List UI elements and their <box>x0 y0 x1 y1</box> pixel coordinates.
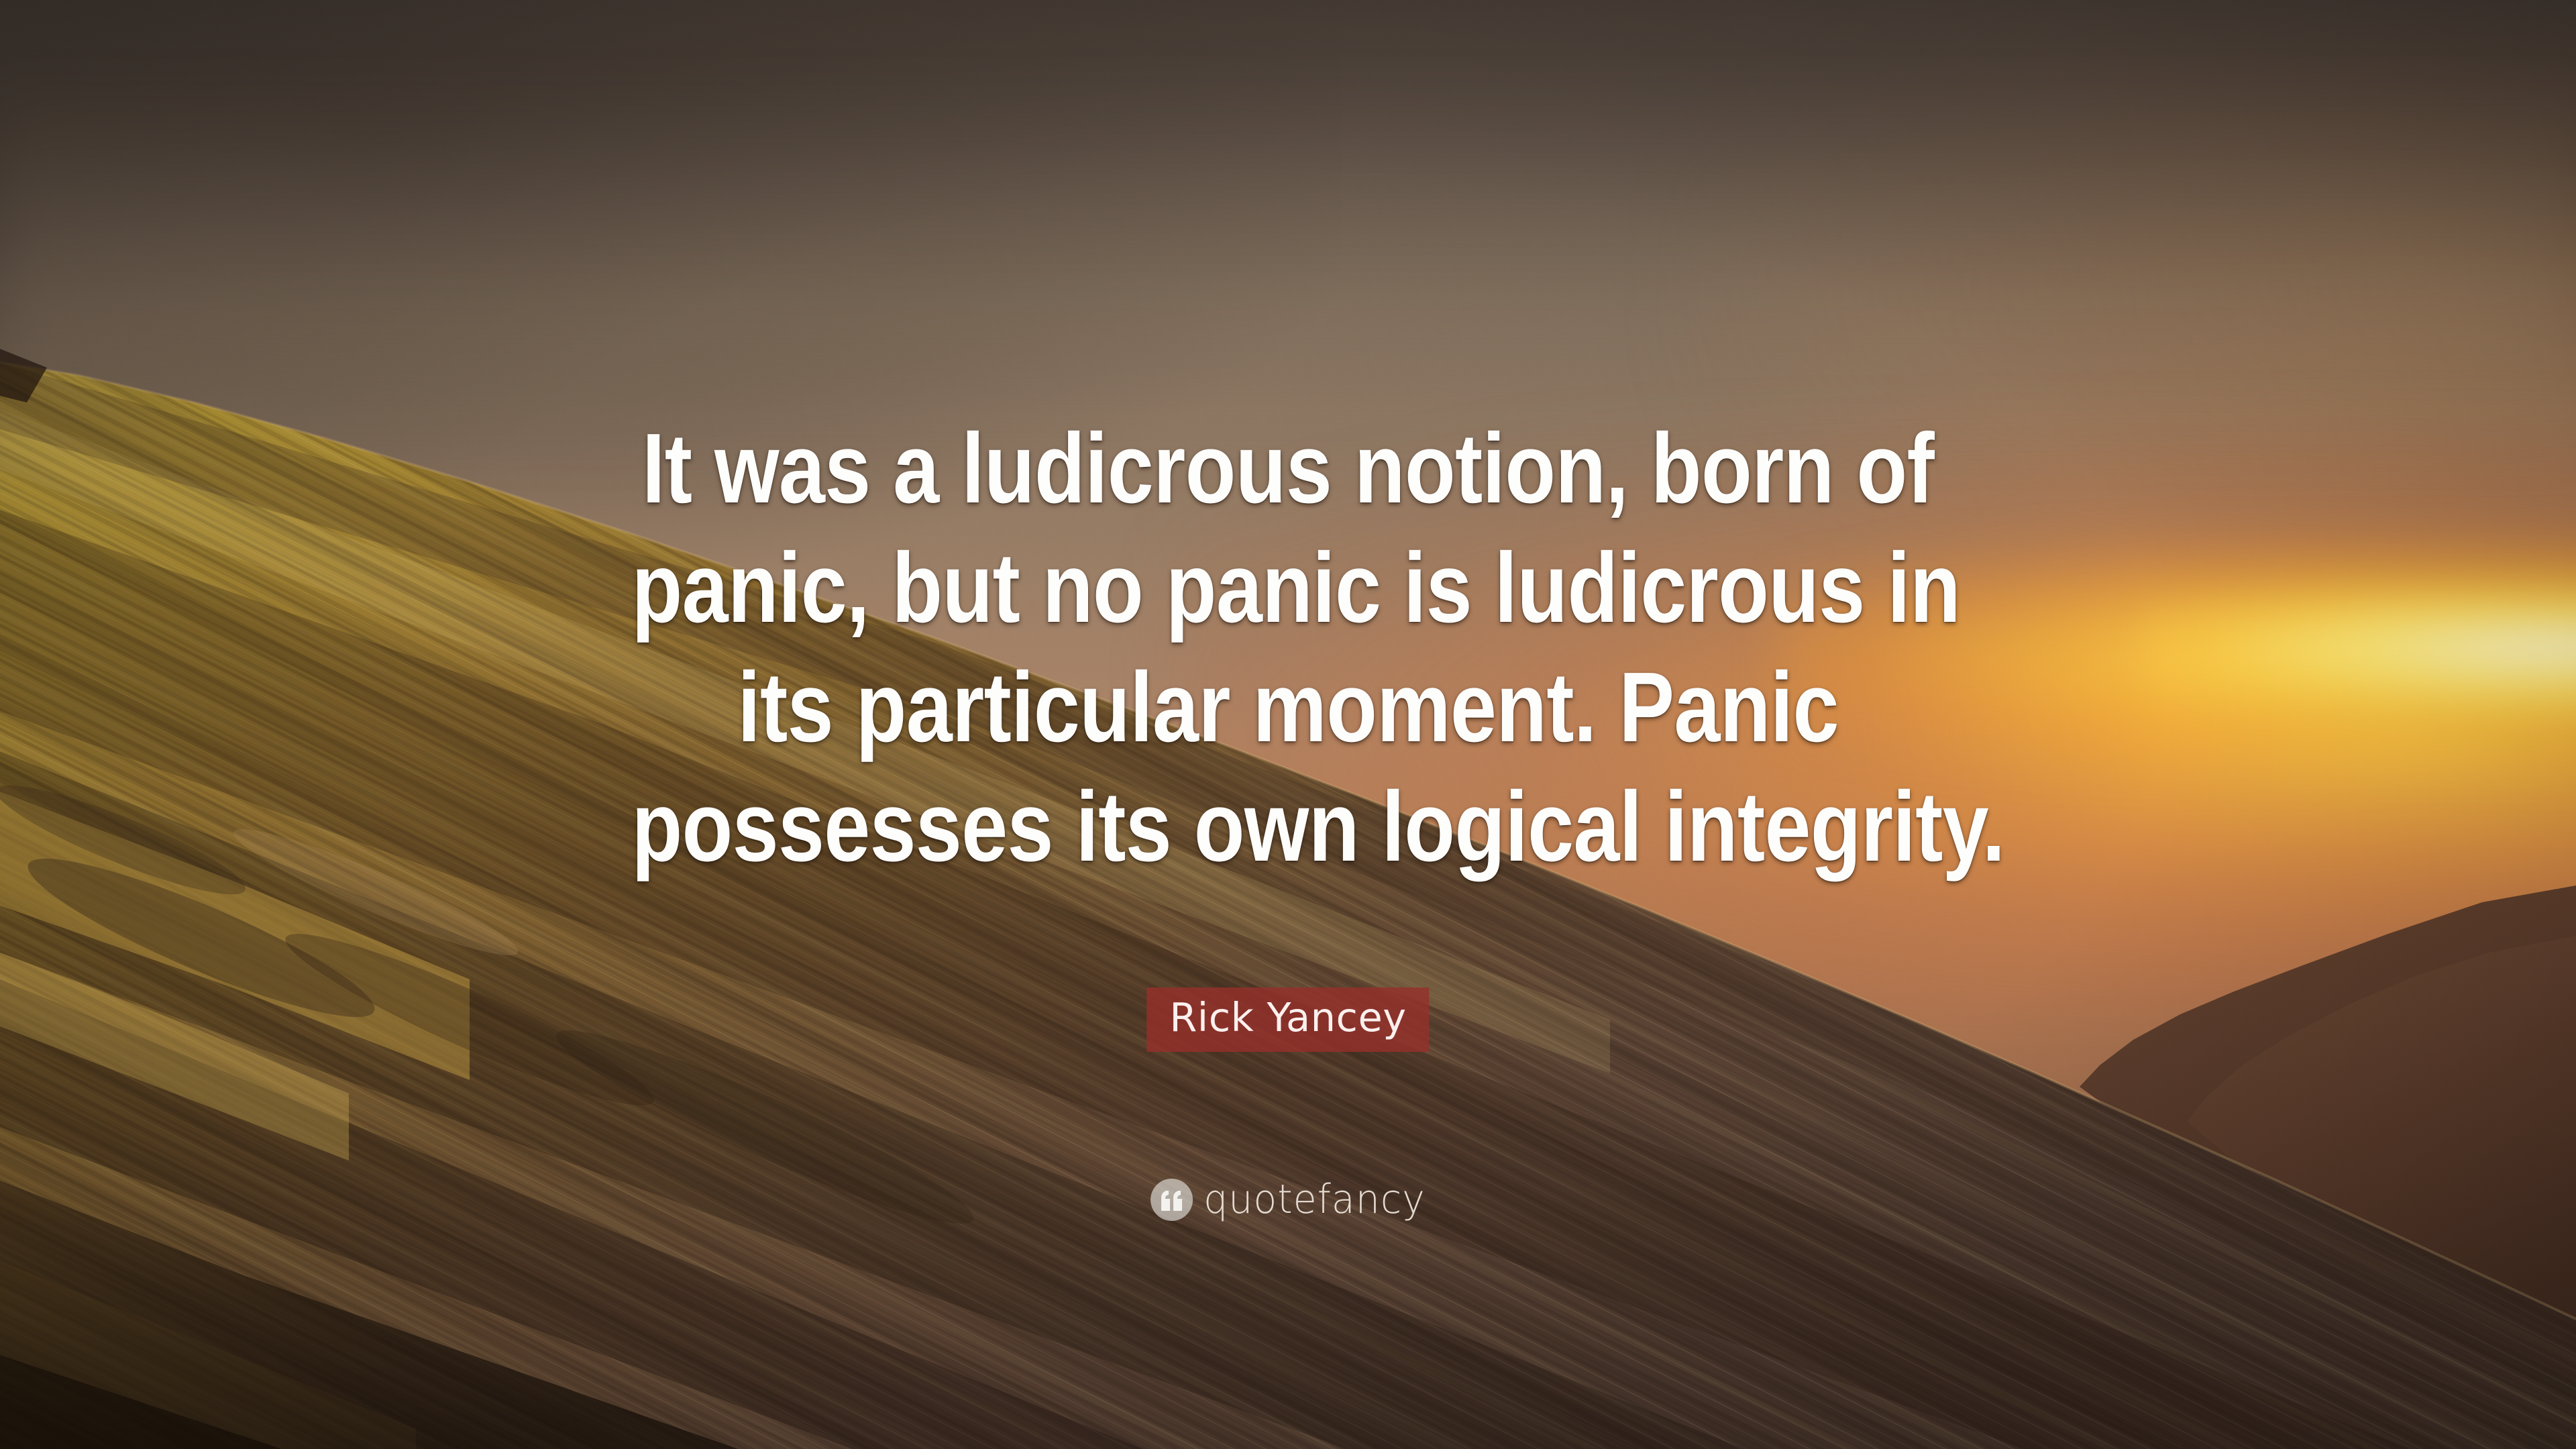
quote-wallpaper: It was a ludicrous notion, born of panic… <box>0 0 2576 1449</box>
foreground-shadow-layer <box>0 0 2576 1449</box>
